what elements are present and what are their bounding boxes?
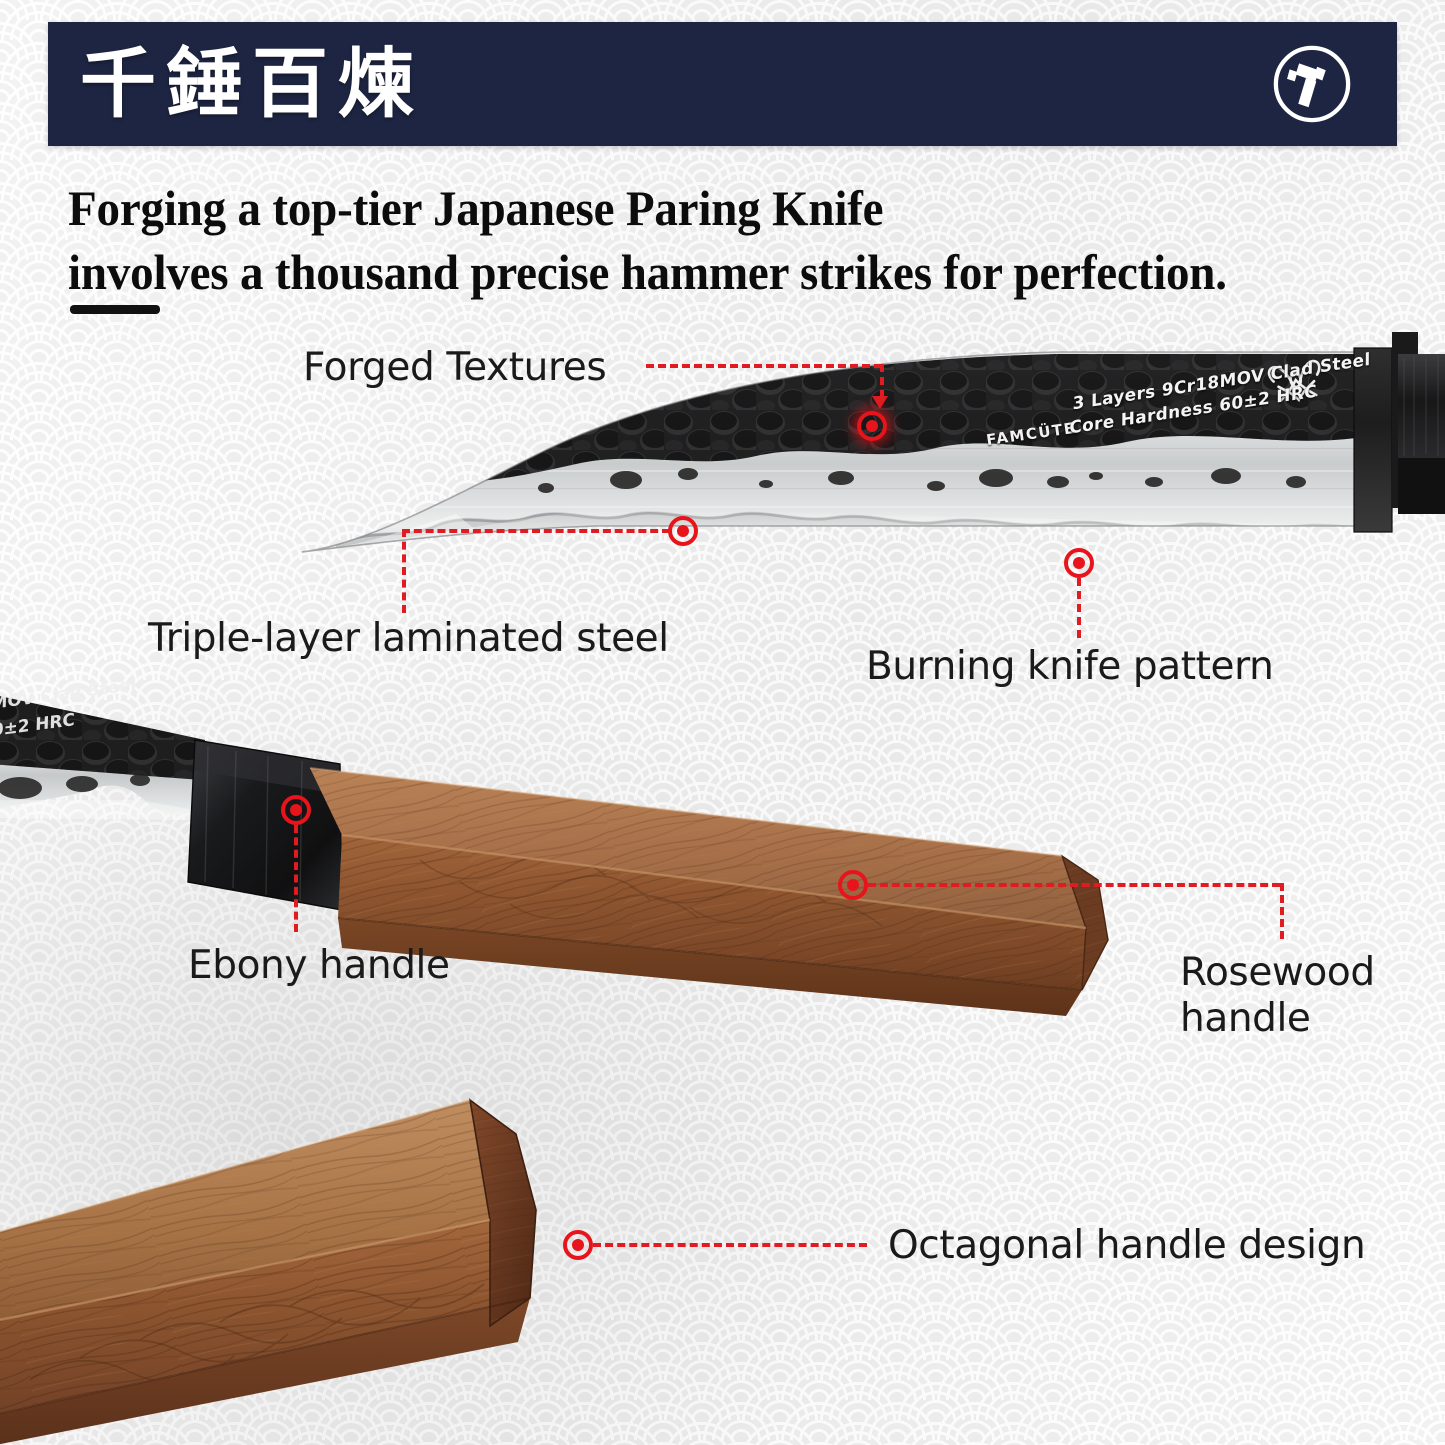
leader-arrow-forged-textures [872,396,888,409]
callout-label-ebony-handle: Ebony handle [188,944,450,988]
callout-label-triple-layer: Triple-layer laminated steel [148,617,669,661]
leader-line-rosewood-handle-drop [1280,883,1284,939]
marker-forged-textures [857,411,887,441]
leader-line-triple-layer-drop [402,529,406,613]
header-title-japanese: 千錘百煉 [80,46,424,122]
callout-label-rosewood-handle: Rosewood handle [1180,950,1375,1042]
callout-label-forged-textures: Forged Textures [303,346,606,390]
leader-line-forged-textures-drop [880,364,884,398]
leader-line-rosewood-handle [868,883,1280,887]
marker-burning-pattern [1064,548,1094,578]
leader-line-octagonal-handle [593,1243,867,1247]
infographic-canvas: 千錘百煉 Forging a top-tier Japanese Paring … [0,0,1445,1445]
marker-octagonal-handle [563,1230,593,1260]
hammer-in-circle-icon [1269,41,1355,127]
headline-divider-rule [70,305,160,314]
marker-rosewood-handle [838,870,868,900]
headline-line-1: Forging a top-tier Japanese Paring Knife [68,180,883,236]
leader-line-ebony-handle [294,825,298,932]
marker-ebony-handle [281,795,311,825]
leader-line-forged-textures [646,364,882,368]
header-bar: 千錘百煉 [48,22,1397,146]
headline-line-2: involves a thousand precise hammer strik… [68,240,1318,304]
callout-label-octagonal-handle: Octagonal handle design [888,1224,1365,1268]
page-headline: Forging a top-tier Japanese Paring Knife… [68,176,1318,304]
leader-line-triple-layer [402,529,670,533]
leader-line-burning-pattern-drop [1077,578,1081,638]
callout-label-burning-pattern: Burning knife pattern [866,645,1273,689]
marker-triple-layer [668,516,698,546]
